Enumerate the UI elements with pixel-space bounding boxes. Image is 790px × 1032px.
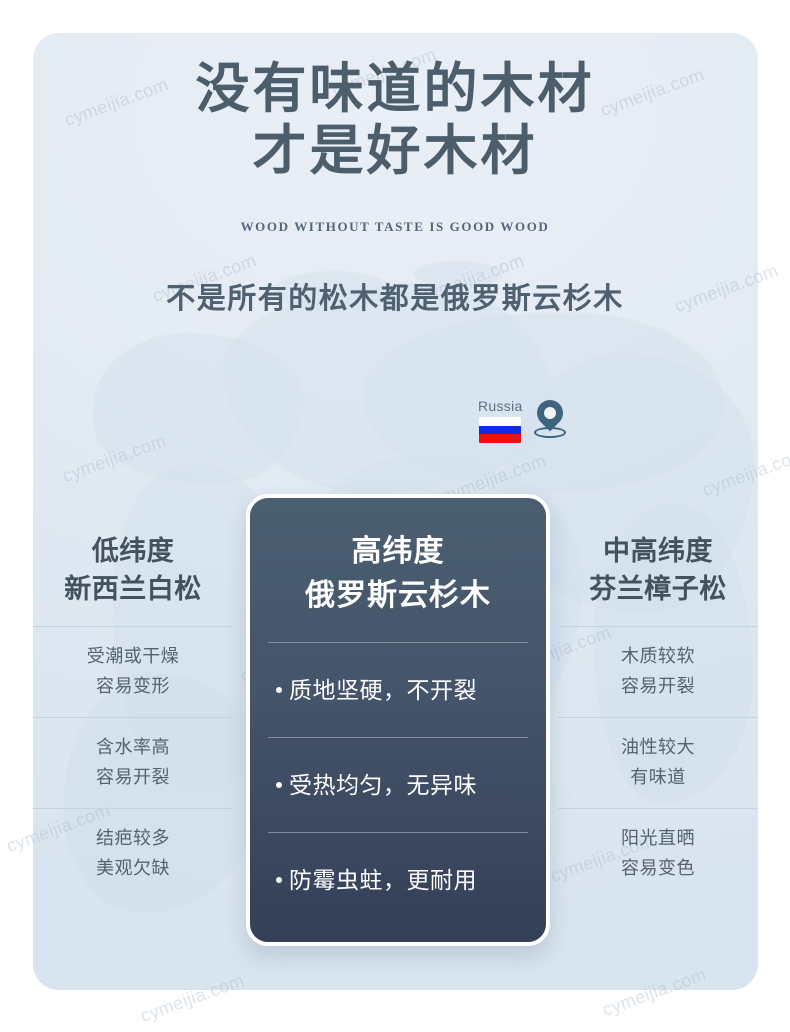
center-card-title: 高纬度 俄罗斯云杉木	[250, 530, 546, 618]
flag-stripe-white	[479, 417, 521, 426]
column-left-list: 受潮或干燥 容易变形 含水率高 容易开裂 结疤较多 美观欠缺	[33, 626, 233, 899]
bullet-dot-icon	[276, 877, 282, 883]
list-item: 阳光直晒 容易变色	[558, 808, 758, 899]
russia-country-label: Russia	[478, 398, 523, 414]
poster-canvas: cymeijia.comcymeijia.comcymeijia.comcyme…	[0, 0, 790, 1032]
center-card-title-line1: 高纬度	[352, 535, 445, 568]
list-item-line1: 受潮或干燥	[87, 646, 180, 666]
list-item: 结疤较多 美观欠缺	[33, 808, 233, 899]
column-left-title-line2: 新西兰白松	[33, 570, 233, 608]
column-mid-high-latitude: 中高纬度 芬兰樟子松 木质较软 容易开裂 油性较大 有味道 阳光直晒 容易变色	[558, 532, 758, 899]
list-item: 受潮或干燥 容易变形	[33, 627, 233, 717]
list-item-line1: 木质较软	[621, 646, 695, 666]
list-item: 防霉虫蛀，更耐用	[268, 832, 528, 927]
flag-stripe-red	[479, 434, 521, 443]
list-item-line2: 容易变形	[33, 671, 233, 701]
column-right-title-line2: 芬兰樟子松	[558, 570, 758, 608]
list-item-label: 受热均匀，无异味	[289, 768, 477, 802]
page-subtitle: 不是所有的松木都是俄罗斯云杉木	[0, 275, 790, 317]
page-title-line2: 才是好木材	[0, 120, 790, 182]
list-item: 含水率高 容易开裂	[33, 717, 233, 808]
page-title: 没有味道的木材 才是好木材	[0, 58, 790, 182]
list-item-label: 质地坚硬，不开裂	[289, 673, 477, 707]
pin-ring	[534, 427, 566, 438]
column-high-latitude-card: 高纬度 俄罗斯云杉木 质地坚硬，不开裂 受热均匀，无异味 防霉虫蛀，更耐用	[246, 494, 550, 946]
center-card-list: 质地坚硬，不开裂 受热均匀，无异味 防霉虫蛀，更耐用	[268, 642, 528, 927]
pin-body	[531, 394, 568, 431]
list-item-line2: 美观欠缺	[33, 853, 233, 883]
list-item-line2: 容易变色	[558, 853, 758, 883]
list-item-line1: 油性较大	[621, 737, 695, 757]
russia-flag-icon	[479, 417, 521, 443]
location-pin-icon	[532, 400, 568, 442]
flag-stripe-blue	[479, 426, 521, 435]
column-right-title-line1: 中高纬度	[603, 536, 713, 566]
list-item-line2: 容易开裂	[558, 671, 758, 701]
list-item: 油性较大 有味道	[558, 717, 758, 808]
column-left-title: 低纬度 新西兰白松	[33, 532, 233, 608]
column-right-title: 中高纬度 芬兰樟子松	[558, 532, 758, 608]
center-card-title-line2: 俄罗斯云杉木	[250, 574, 546, 618]
list-item-line2: 有味道	[558, 762, 758, 792]
bullet-dot-icon	[276, 782, 282, 788]
russia-marker: Russia	[478, 398, 568, 443]
list-item-line1: 阳光直晒	[621, 828, 695, 848]
list-item: 受热均匀，无异味	[268, 737, 528, 832]
column-right-list: 木质较软 容易开裂 油性较大 有味道 阳光直晒 容易变色	[558, 626, 758, 899]
list-item-line1: 含水率高	[96, 737, 170, 757]
bullet-dot-icon	[276, 687, 282, 693]
list-item: 质地坚硬，不开裂	[268, 643, 528, 737]
list-item-label: 防霉虫蛀，更耐用	[289, 863, 477, 897]
russia-label-group: Russia	[478, 398, 523, 443]
list-item-line2: 容易开裂	[33, 762, 233, 792]
column-left-title-line1: 低纬度	[92, 536, 175, 566]
column-low-latitude: 低纬度 新西兰白松 受潮或干燥 容易变形 含水率高 容易开裂 结疤较多 美观欠缺	[33, 532, 233, 899]
list-item: 木质较软 容易开裂	[558, 627, 758, 717]
english-tagline: WOOD WITHOUT TASTE IS GOOD WOOD	[0, 219, 790, 235]
page-title-line1: 没有味道的木材	[196, 59, 595, 119]
list-item-line1: 结疤较多	[96, 828, 170, 848]
